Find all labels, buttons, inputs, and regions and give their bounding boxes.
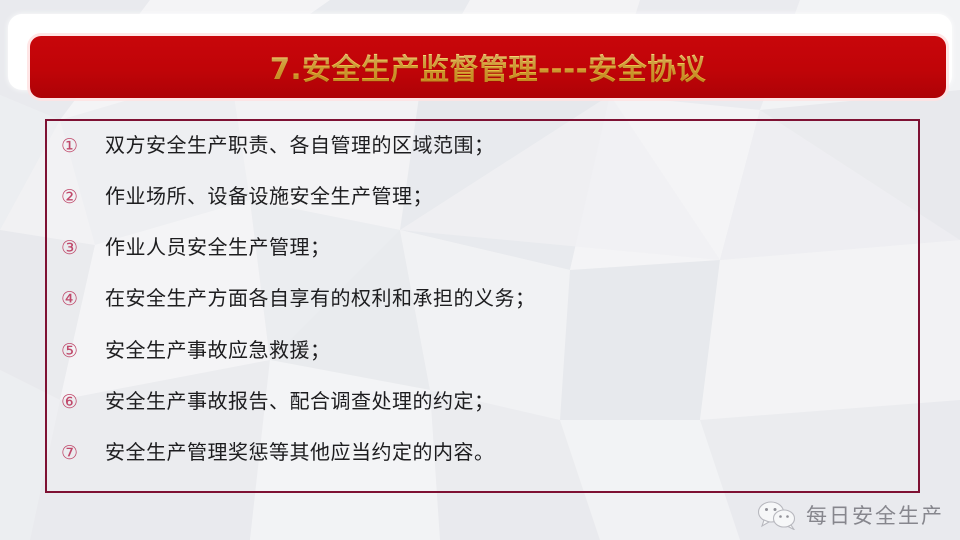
- title-banner: 7.安全生产监督管理----安全协议: [30, 36, 946, 98]
- list-item: ② 作业场所、设备设施安全生产管理；: [57, 186, 920, 237]
- list-item: ⑤ 安全生产事故应急救援；: [57, 340, 920, 391]
- list-item: ① 双方安全生产职责、各自管理的区域范围；: [57, 135, 920, 186]
- list-item-marker: ①: [61, 137, 105, 156]
- list-item-label: 安全生产事故报告、配合调查处理的约定；: [105, 391, 495, 411]
- list-item-label: 在安全生产方面各自享有的权利和承担的义务；: [105, 288, 536, 308]
- list-item-marker: ②: [61, 188, 105, 207]
- list-item-marker: ④: [61, 290, 105, 309]
- wechat-icon: [757, 500, 797, 530]
- list-item-marker: ⑥: [61, 393, 105, 412]
- list-item-label: 作业场所、设备设施安全生产管理；: [105, 186, 433, 206]
- slide-canvas: 7.安全生产监督管理----安全协议 ① 双方安全生产职责、各自管理的区域范围；…: [0, 0, 960, 540]
- watermark-label: 每日安全生产: [806, 500, 944, 530]
- list-item: ⑦ 安全生产管理奖惩等其他应当约定的内容。: [57, 442, 920, 493]
- list-item: ③ 作业人员安全生产管理；: [57, 237, 920, 288]
- list-item-label: 安全生产管理奖惩等其他应当约定的内容。: [105, 442, 495, 462]
- list-item-label: 安全生产事故应急救援；: [105, 340, 331, 360]
- agreement-item-list: ① 双方安全生产职责、各自管理的区域范围； ② 作业场所、设备设施安全生产管理；…: [45, 119, 920, 493]
- page-title: 7.安全生产监督管理----安全协议: [270, 46, 706, 88]
- list-item-label: 双方安全生产职责、各自管理的区域范围；: [105, 135, 495, 155]
- list-item-label: 作业人员安全生产管理；: [105, 237, 331, 257]
- list-item: ⑥ 安全生产事故报告、配合调查处理的约定；: [57, 391, 920, 442]
- watermark: 每日安全生产: [757, 500, 944, 530]
- list-item: ④ 在安全生产方面各自享有的权利和承担的义务；: [57, 288, 920, 339]
- list-item-marker: ⑦: [61, 444, 105, 463]
- list-item-marker: ③: [61, 239, 105, 258]
- title-banner-outline: 7.安全生产监督管理----安全协议: [8, 14, 952, 90]
- list-item-marker: ⑤: [61, 342, 105, 361]
